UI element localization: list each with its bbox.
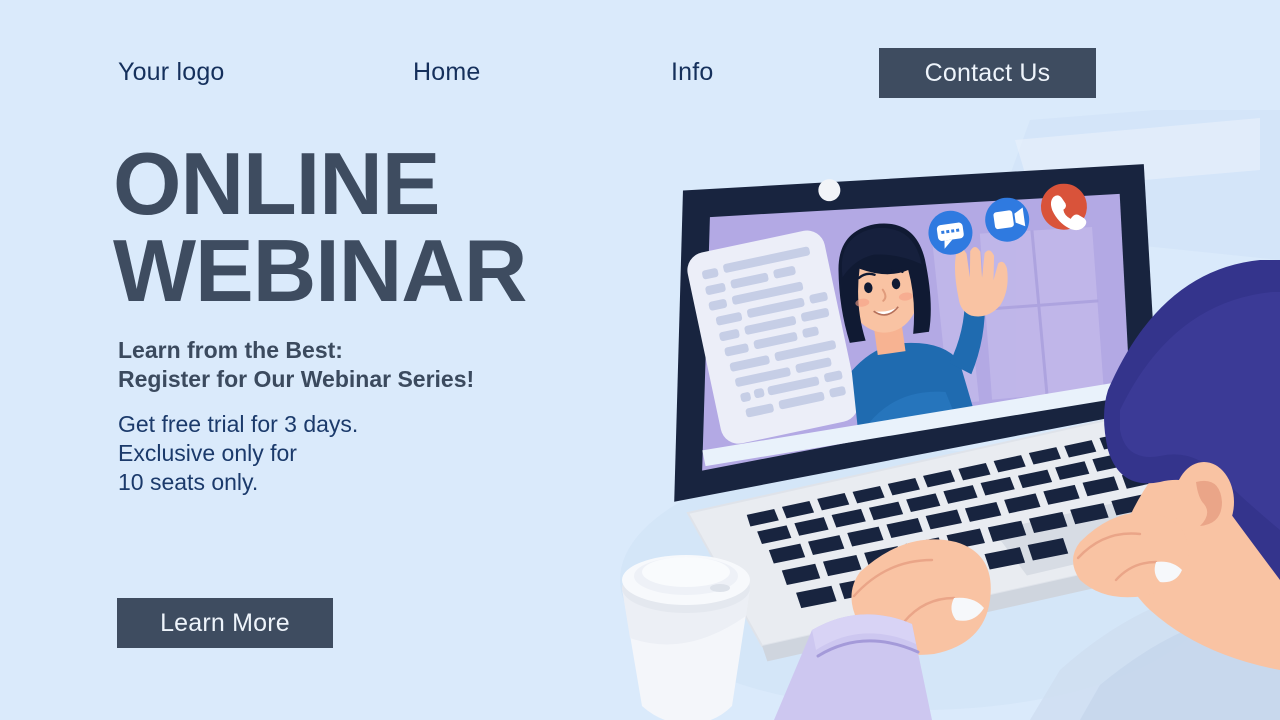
hero-illustration xyxy=(560,110,1280,720)
webinar-landing-page: Your logo Home Info Contact Us ONLINE WE… xyxy=(0,0,1280,720)
learn-more-button[interactable]: Learn More xyxy=(117,598,333,648)
nav-link-info[interactable]: Info xyxy=(671,60,714,85)
contact-us-button-label: Contact Us xyxy=(925,61,1051,86)
hero-body-text: Get free trial for 3 days. Exclusive onl… xyxy=(118,410,598,498)
learn-more-button-label: Learn More xyxy=(160,611,290,636)
site-logo[interactable]: Your logo xyxy=(118,60,225,85)
contact-us-button[interactable]: Contact Us xyxy=(879,48,1096,98)
navbar: Your logo Home Info Contact Us xyxy=(0,0,1280,120)
nav-link-home[interactable]: Home xyxy=(413,60,481,85)
